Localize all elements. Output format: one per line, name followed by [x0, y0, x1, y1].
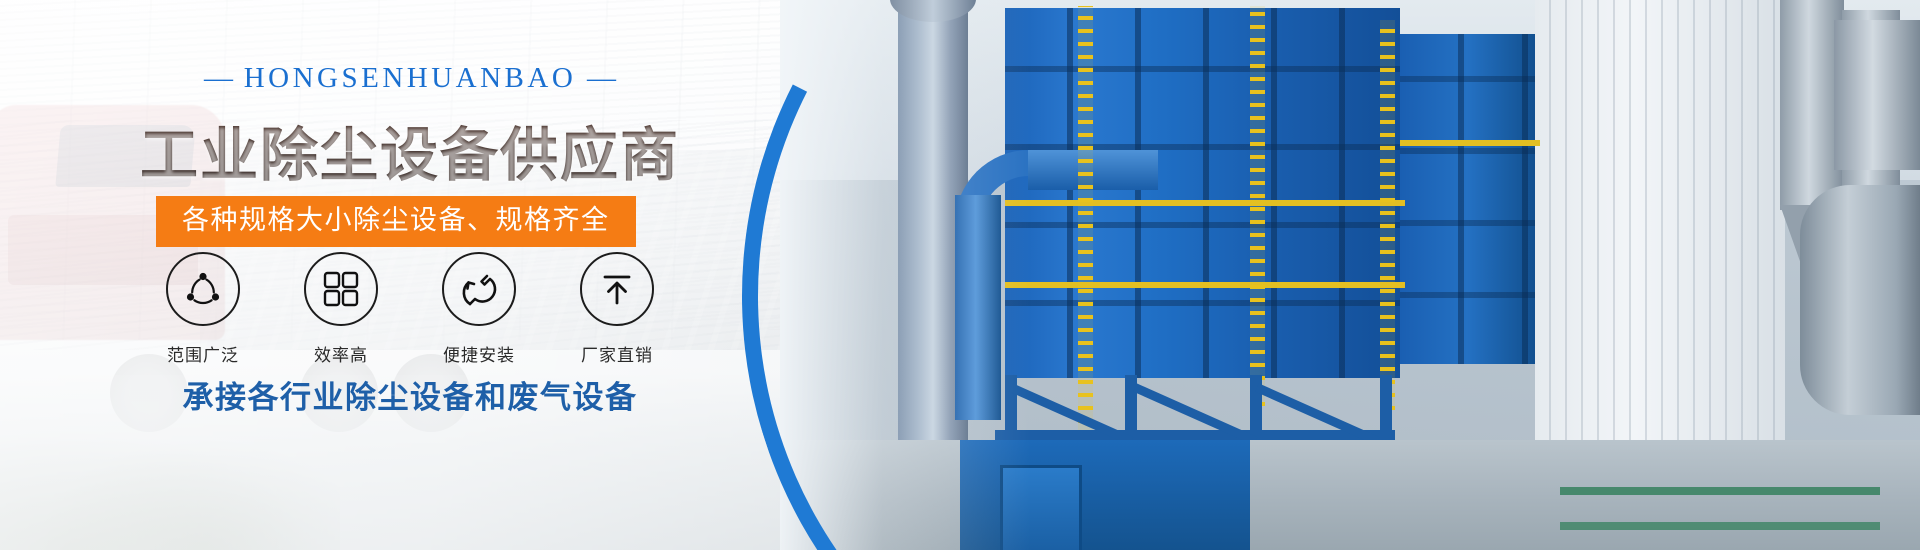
feature-label: 便捷安装 [440, 341, 518, 366]
feature-label: 范围广泛 [164, 341, 242, 366]
feature-item-factory-direct[interactable]: 厂家直销 [578, 252, 656, 366]
feature-label: 厂家直销 [578, 341, 656, 366]
feature-label: 效率高 [302, 341, 380, 366]
feature-item-efficiency[interactable]: 效率高 [302, 252, 380, 366]
upload-arrow-icon [580, 252, 654, 326]
hero-banner: — HONGSENHUANBAO — 工业除尘设备供应商 各种规格大小除尘设备、… [0, 0, 1920, 550]
eyebrow-dash-left: — [204, 62, 233, 94]
tagline: 承接各行业除尘设备和废气设备 [0, 372, 820, 417]
feature-item-range[interactable]: 范围广泛 [164, 252, 242, 366]
eyebrow-dash-right: — [587, 62, 616, 94]
banner-content: — HONGSENHUANBAO — 工业除尘设备供应商 各种规格大小除尘设备、… [0, 0, 820, 550]
feature-item-installation[interactable]: 便捷安装 [440, 252, 518, 366]
eyebrow-text: HONGSENHUANBAO [244, 62, 577, 94]
wrench-refresh-icon [442, 252, 516, 326]
page-title: 工业除尘设备供应商 [0, 108, 820, 192]
brand-pinyin-eyebrow: — HONGSENHUANBAO — [0, 62, 820, 95]
subtitle-orange-bar: 各种规格大小除尘设备、规格齐全 [156, 196, 636, 247]
feature-list: 范围广泛 效率高 [0, 252, 820, 366]
network-nodes-icon [166, 252, 240, 326]
industrial-dust-collector-photo [780, 0, 1920, 550]
grid-squares-icon [304, 252, 378, 326]
photo-edge-fade [780, 0, 1920, 550]
